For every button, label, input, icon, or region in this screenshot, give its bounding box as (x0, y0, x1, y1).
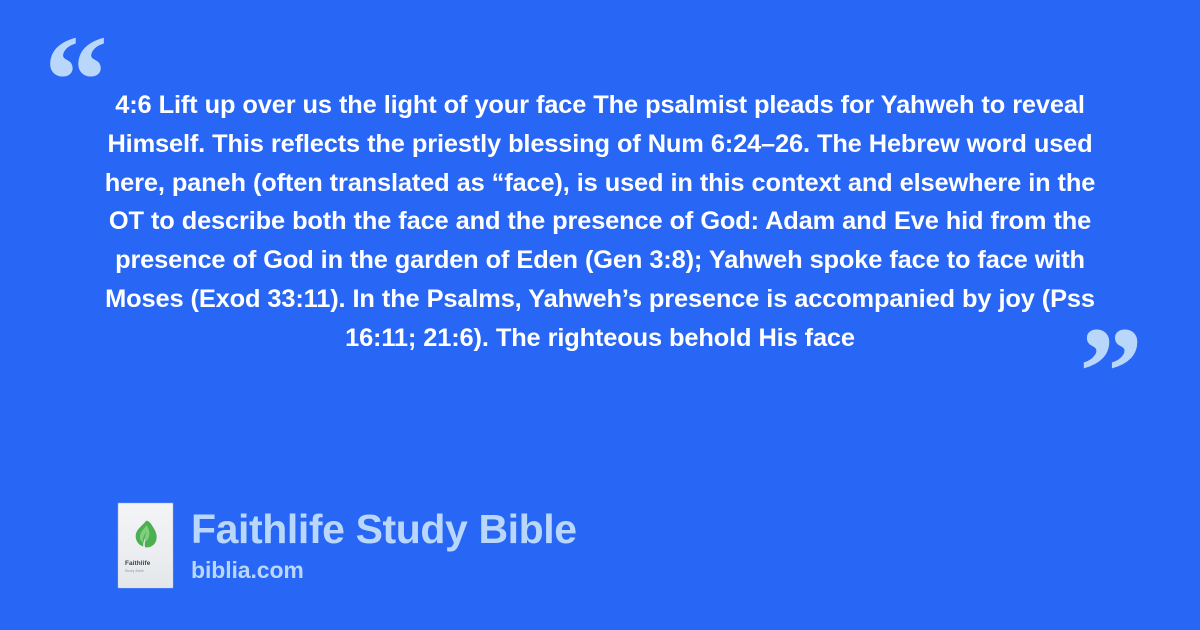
open-quote-icon: “ (44, 16, 108, 144)
quote-card: “ 4:6 Lift up over us the light of your … (0, 0, 1200, 630)
close-quote-icon: ” (1079, 308, 1143, 436)
brand-text-block: Faithlife Study Bible biblia.com (191, 506, 577, 585)
quote-text: 4:6 Lift up over us the light of your fa… (100, 86, 1100, 358)
book-cover-subtitle: Study Bible (125, 569, 144, 573)
leaf-icon (134, 520, 158, 550)
quote-container: 4:6 Lift up over us the light of your fa… (100, 86, 1100, 416)
book-cover-title: Faithlife (125, 560, 150, 567)
brand-url[interactable]: biblia.com (191, 555, 577, 585)
brand-title: Faithlife Study Bible (191, 506, 577, 552)
brand-footer: Faithlife Study Bible Faithlife Study Bi… (118, 503, 577, 588)
book-cover-thumbnail: Faithlife Study Bible (118, 503, 173, 588)
